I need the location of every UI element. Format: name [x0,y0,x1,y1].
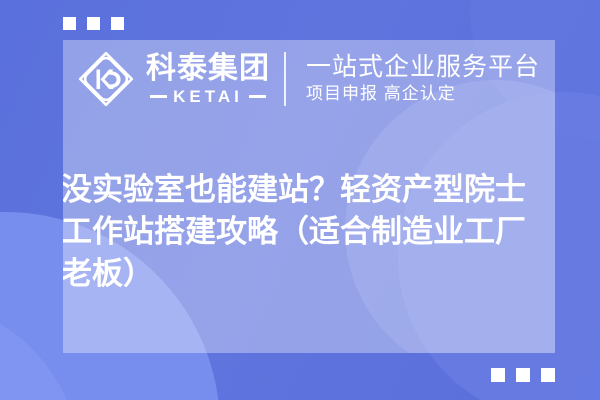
content-panel: 科泰集团 KETAI 一站式企业服务平台 项目申报 高企认定 没实验室也能建站？… [63,40,555,353]
brand-wordmark: 科泰集团 KETAI [146,53,270,105]
promo-banner: 科泰集团 KETAI 一站式企业服务平台 项目申报 高企认定 没实验室也能建站？… [0,0,600,400]
brand-rule-right-icon [249,95,266,98]
square-dot-icon [541,368,555,382]
square-dot-icon [516,368,530,382]
brand-lockup[interactable]: 科泰集团 KETAI [63,49,270,109]
tagline-primary: 一站式企业服务平台 [306,54,540,82]
square-dot-icon [87,17,100,30]
brand-rule-left-icon [150,95,167,98]
square-dot-icon [491,368,505,382]
banner-header: 科泰集团 KETAI 一站式企业服务平台 项目申报 高企认定 [63,40,555,118]
square-dot-icon [63,17,76,30]
tagline-secondary: 项目申报 高企认定 [306,85,540,104]
square-dot-icon [111,17,124,30]
tagline-block: 一站式企业服务平台 项目申报 高企认定 [306,54,540,104]
brand-latin-name: KETAI [173,88,243,105]
article-title-text: 没实验室也能建站？轻资产型院士工作站搭建攻略（适合制造业工厂老板） [63,169,551,295]
article-title: 没实验室也能建站？轻资产型院士工作站搭建攻略（适合制造业工厂老板） [63,169,555,295]
header-divider [284,52,286,106]
brand-latin-row: KETAI [150,88,266,105]
ketai-diamond-kd-monogram-icon [76,49,136,109]
decorative-dots-top-left [63,17,124,30]
decorative-dots-bottom-right [491,368,555,382]
brand-name: 科泰集团 [146,53,270,85]
